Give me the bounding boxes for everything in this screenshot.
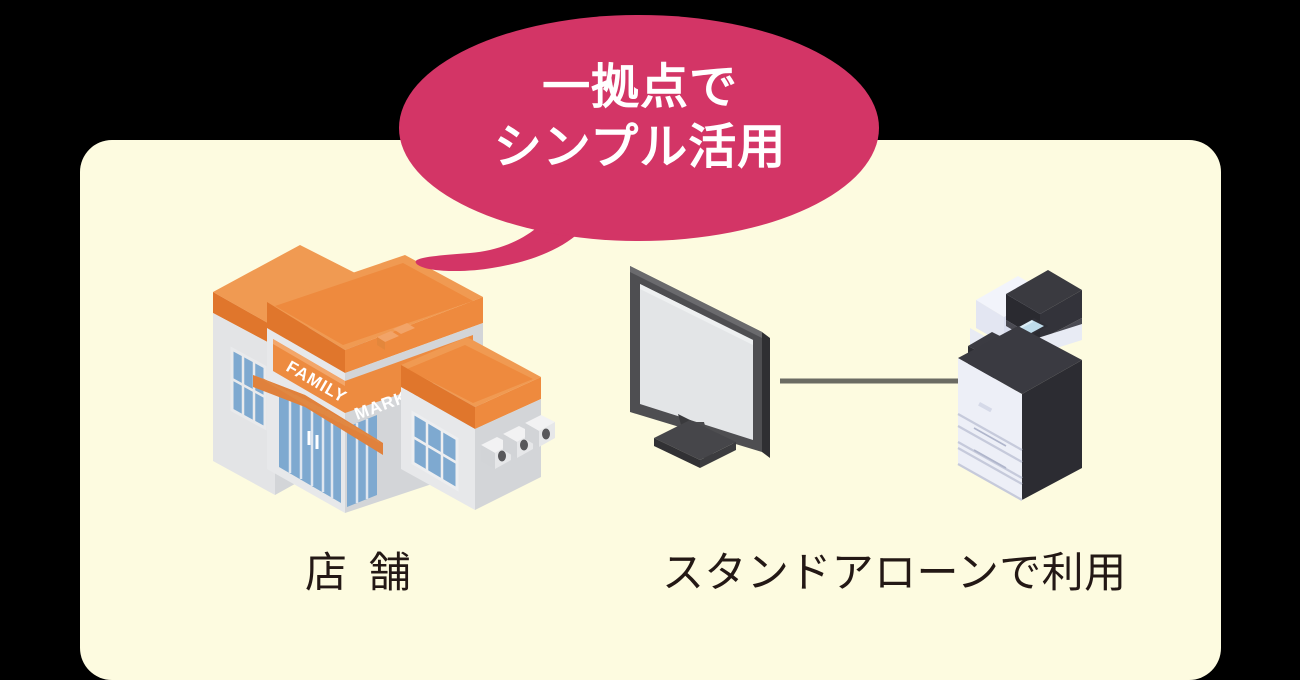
caption-standalone: スタンドアローンで利用 — [662, 552, 1127, 594]
store-illustration: FAMILY MARKET — [205, 245, 555, 520]
printer-illustration — [930, 262, 1090, 512]
diagram-canvas: FAMILY MARKET — [0, 0, 1300, 650]
speech-bubble-line-2: シンプル活用 — [400, 118, 880, 178]
caption-store: 店 舗 — [305, 552, 415, 594]
speech-bubble-line-1: 一拠点で — [400, 58, 880, 118]
speech-bubble-text: 一拠点で シンプル活用 — [400, 58, 880, 177]
